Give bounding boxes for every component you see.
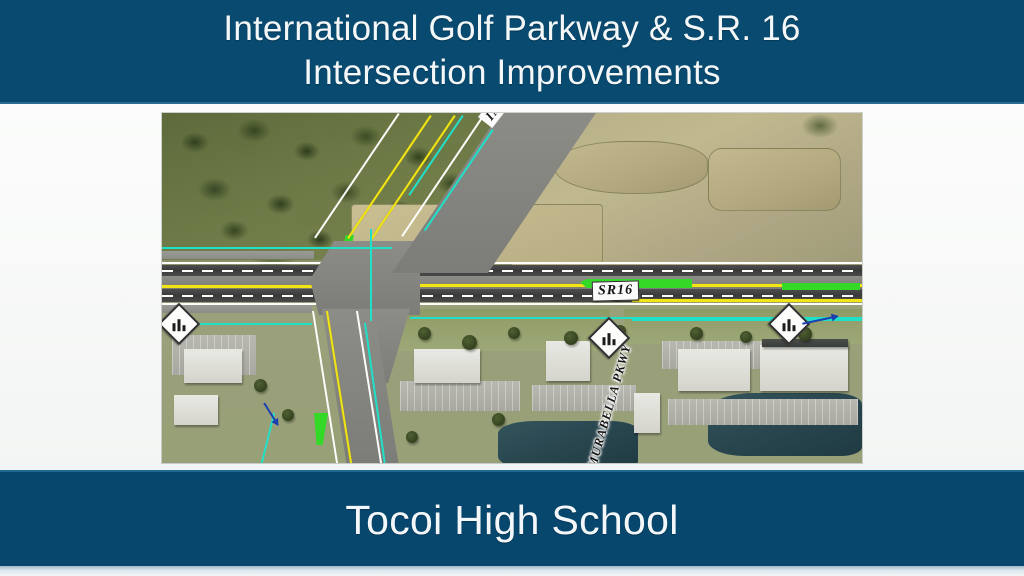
map-tree — [564, 331, 578, 345]
slide-header: International Golf Parkway & S.R. 16 Int… — [0, 0, 1024, 104]
map-tree — [690, 327, 703, 340]
map-right-of-way-line — [162, 247, 392, 249]
map-edge-line — [162, 262, 862, 264]
page-title-line-1: International Golf Parkway & S.R. 16 — [223, 7, 800, 51]
map-lane-dash — [162, 270, 862, 272]
slide-bottom-edge — [0, 566, 1024, 576]
map-centerline-yellow — [632, 299, 862, 302]
map-canvas: SR16 INTERNATIONAL GOLF PKWY MURABELLA P… — [162, 113, 862, 463]
map-retention-pond — [498, 421, 638, 463]
slide-footer: Tocoi High School SJC — [0, 470, 1024, 566]
page-title-line-2: Intersection Improvements — [303, 51, 720, 95]
slide-content-area: SR16 INTERNATIONAL GOLF PKWY MURABELLA P… — [0, 104, 1024, 470]
map-building — [414, 349, 480, 383]
callout-bars-icon — [603, 332, 616, 345]
map-tree — [418, 327, 431, 340]
map-building — [546, 341, 590, 381]
callout-bars-icon — [783, 318, 796, 331]
map-pond — [708, 148, 841, 211]
map-proposed-median-island — [782, 283, 860, 290]
map-right-of-way-line — [370, 229, 372, 321]
map-lane-dash — [162, 295, 862, 297]
aerial-map-image: SR16 INTERNATIONAL GOLF PKWY MURABELLA P… — [162, 113, 862, 463]
map-tree — [508, 327, 520, 339]
map-tree — [462, 335, 477, 350]
map-parking-lot — [400, 381, 520, 411]
map-road-west-approach — [162, 251, 314, 259]
presentation-slide: International Golf Parkway & S.R. 16 Int… — [0, 0, 1024, 576]
map-tree — [406, 431, 418, 443]
map-building — [678, 349, 750, 391]
map-tree — [492, 413, 505, 426]
map-building — [760, 345, 848, 391]
callout-bars-icon — [173, 318, 186, 331]
footer-title: Tocoi High School — [0, 472, 1024, 568]
map-tree — [282, 409, 294, 421]
map-label-sr16: SR16 — [592, 280, 640, 301]
map-building — [184, 349, 242, 383]
map-tree — [740, 331, 752, 343]
map-parking-lot — [668, 399, 858, 425]
map-pond — [554, 141, 708, 194]
map-building — [174, 395, 218, 425]
map-building — [634, 393, 660, 433]
map-tree — [254, 379, 267, 392]
